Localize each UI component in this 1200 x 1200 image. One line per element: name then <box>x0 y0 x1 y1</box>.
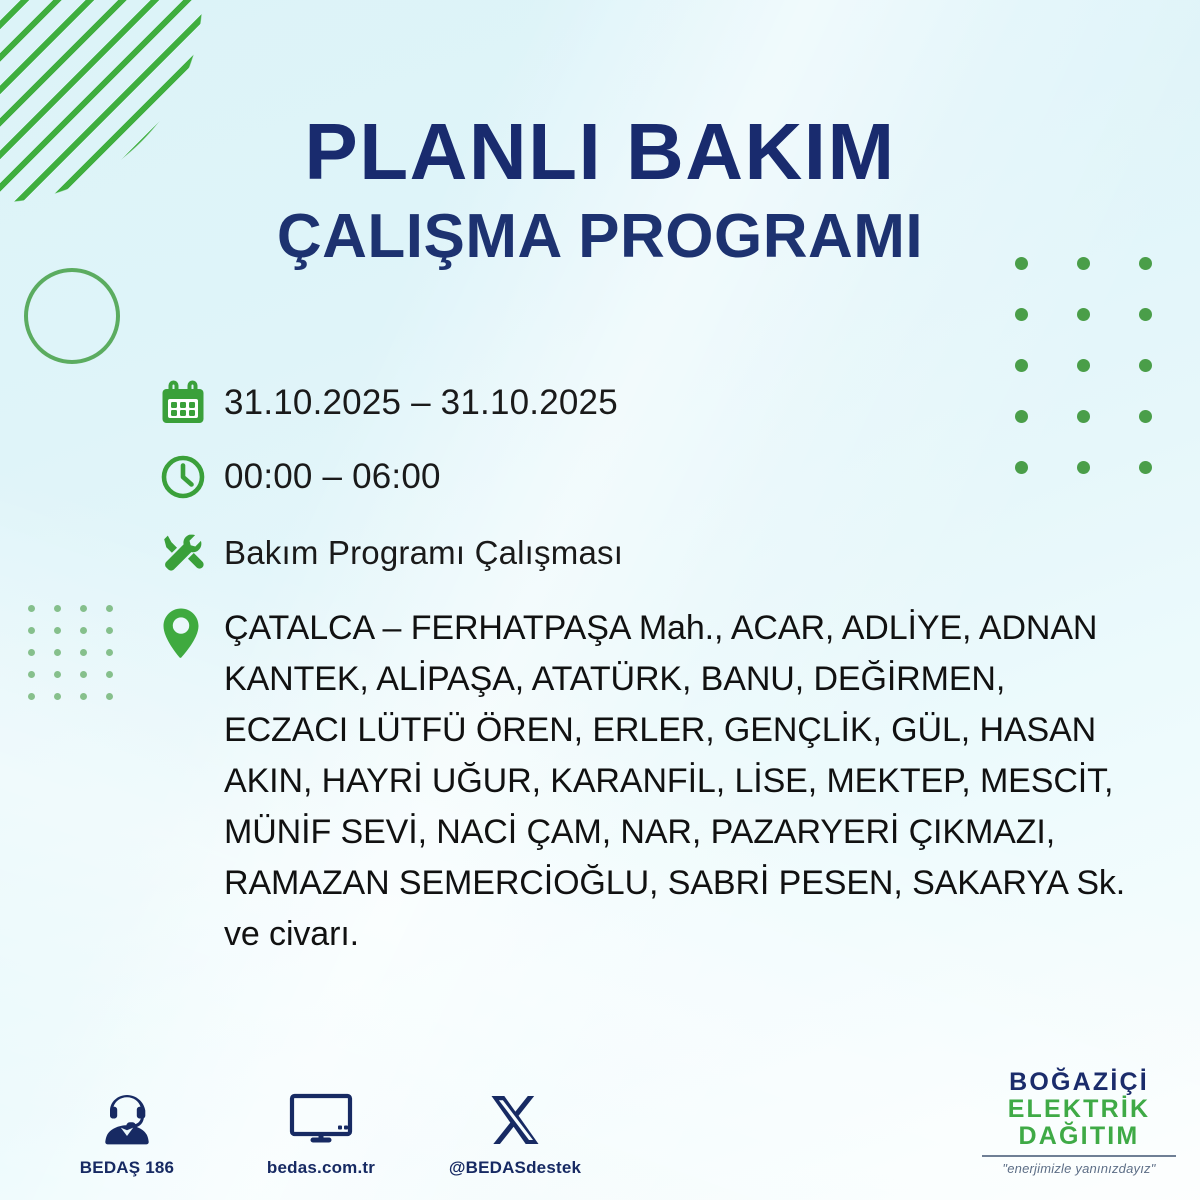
address-line: KANTEK, ALİPAŞA, ATATÜRK, BANU, DEĞİRMEN… <box>224 654 1125 705</box>
page-footer: BEDAŞ 186 bedas.com.tr <box>0 1058 1200 1178</box>
clock-icon <box>160 449 224 505</box>
address-line: MÜNİF SEVİ, NACİ ÇAM, NAR, PAZARYERİ ÇIK… <box>224 807 1125 858</box>
dot <box>28 671 35 678</box>
headset-operator-icon <box>52 1086 202 1148</box>
logo-divider <box>982 1155 1176 1157</box>
dot <box>80 627 87 634</box>
logo-tagline: "enerjimizle yanınızdayız" <box>976 1161 1182 1176</box>
logo-line-elektrik: ELEKTRİK <box>976 1096 1182 1123</box>
address-line: ÇATALCA – FERHATPAŞA Mah., ACAR, ADLİYE,… <box>224 603 1125 654</box>
contact-phone-label: BEDAŞ 186 <box>52 1158 202 1178</box>
dot <box>106 605 113 612</box>
dot <box>54 627 61 634</box>
date-range-value: 31.10.2025 – 31.10.2025 <box>224 375 618 431</box>
monitor-icon <box>246 1086 396 1148</box>
dot <box>106 649 113 656</box>
time-range-value: 00:00 – 06:00 <box>224 449 441 505</box>
info-row-date: 31.10.2025 – 31.10.2025 <box>160 375 1180 431</box>
info-row-time: 00:00 – 06:00 <box>160 449 1180 505</box>
page-subtitle: ÇALIŞMA PROGRAMI <box>0 206 1200 268</box>
dot <box>54 605 61 612</box>
contact-phone[interactable]: BEDAŞ 186 <box>52 1086 202 1178</box>
dot <box>28 693 35 700</box>
dot <box>106 693 113 700</box>
dot <box>28 649 35 656</box>
address-line: ECZACI LÜTFÜ ÖREN, ERLER, GENÇLİK, GÜL, … <box>224 705 1125 756</box>
dot <box>1015 308 1028 321</box>
dot <box>54 671 61 678</box>
dot <box>1139 308 1152 321</box>
dot <box>1077 308 1090 321</box>
page-header: PLANLI BAKIM ÇALIŞMA PROGRAMI <box>0 112 1200 268</box>
dot <box>1077 359 1090 372</box>
dot-grid-left-decoration <box>18 597 122 707</box>
contact-social-label: @BEDASdestek <box>440 1158 590 1178</box>
dot <box>80 671 87 678</box>
dot <box>28 627 35 634</box>
company-logo: BOĞAZİÇİ ELEKTRİK DAĞITIM "enerjimizle y… <box>976 1069 1182 1176</box>
address-line: ve civarı. <box>224 909 1125 960</box>
tools-icon <box>160 525 224 581</box>
work-type-value: Bakım Programı Çalışması <box>224 525 623 581</box>
page-title: PLANLI BAKIM <box>0 112 1200 192</box>
dot <box>54 649 61 656</box>
dot <box>106 671 113 678</box>
calendar-icon <box>160 375 224 431</box>
dot <box>1015 359 1028 372</box>
info-row-work-type: Bakım Programı Çalışması <box>160 525 1180 581</box>
address-line: AKIN, HAYRİ UĞUR, KARANFİL, LİSE, MEKTEP… <box>224 756 1125 807</box>
dot <box>28 605 35 612</box>
outage-info-panel: 31.10.2025 – 31.10.2025 00:00 – 06:00 Ba… <box>160 375 1180 960</box>
dot <box>106 627 113 634</box>
circle-outline-decoration <box>24 268 120 364</box>
logo-line-bogazici: BOĞAZİÇİ <box>976 1069 1182 1096</box>
location-pin-icon <box>160 603 224 661</box>
contact-social[interactable]: @BEDASdestek <box>440 1086 590 1178</box>
logo-line-dagitim: DAĞITIM <box>976 1123 1182 1150</box>
dot <box>80 693 87 700</box>
x-twitter-icon <box>440 1086 590 1148</box>
dot <box>80 649 87 656</box>
contact-website-label: bedas.com.tr <box>246 1158 396 1178</box>
contact-list: BEDAŞ 186 bedas.com.tr <box>52 1086 590 1178</box>
contact-website[interactable]: bedas.com.tr <box>246 1086 396 1178</box>
dot <box>80 605 87 612</box>
address-value: ÇATALCA – FERHATPAŞA Mah., ACAR, ADLİYE,… <box>224 603 1125 960</box>
dot <box>54 693 61 700</box>
dot <box>1139 359 1152 372</box>
address-line: RAMAZAN SEMERCİOĞLU, SABRİ PESEN, SAKARY… <box>224 858 1125 909</box>
info-row-address: ÇATALCA – FERHATPAŞA Mah., ACAR, ADLİYE,… <box>160 603 1180 960</box>
